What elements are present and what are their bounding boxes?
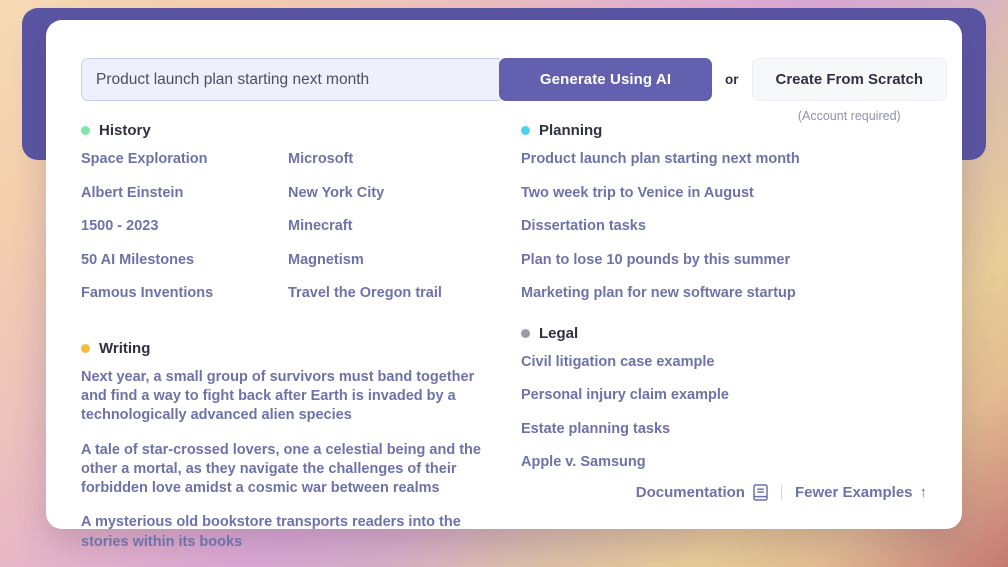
section-title-legal: Legal	[539, 325, 578, 342]
list-item[interactable]: Travel the Oregon trail	[288, 284, 495, 303]
arrow-up-icon: ↑	[920, 485, 928, 500]
list-item[interactable]: Civil litigation case example	[521, 353, 927, 372]
list-item[interactable]: Albert Einstein	[81, 184, 288, 203]
section-title-planning: Planning	[539, 122, 602, 139]
list-item[interactable]: 50 AI Milestones	[81, 251, 288, 270]
list-item[interactable]: Minecraft	[288, 217, 495, 236]
list-item[interactable]: Magnetism	[288, 251, 495, 270]
history-items-grid: Space Exploration Albert Einstein 1500 -…	[81, 150, 521, 318]
section-title-history: History	[99, 122, 151, 139]
writing-dot-icon	[81, 344, 90, 353]
list-item[interactable]: Famous Inventions	[81, 284, 288, 303]
planning-dot-icon	[521, 126, 530, 135]
section-header-history: History	[81, 122, 521, 139]
left-column: History Space Exploration Albert Einstei…	[81, 122, 521, 567]
section-history: History Space Exploration Albert Einstei…	[81, 122, 521, 318]
list-item[interactable]: New York City	[288, 184, 495, 203]
fewer-examples-link[interactable]: Fewer Examples ↑	[795, 484, 927, 501]
section-writing: Writing Next year, a small group of surv…	[81, 340, 521, 552]
fewer-examples-label: Fewer Examples	[795, 484, 913, 501]
composer-bar: Generate Using AI or Create From Scratch…	[81, 58, 947, 123]
legal-dot-icon	[521, 329, 530, 338]
section-header-writing: Writing	[81, 340, 521, 357]
section-planning: Planning Product launch plan starting ne…	[521, 122, 927, 303]
prompt-input[interactable]	[81, 58, 500, 101]
create-from-scratch-button[interactable]: Create From Scratch	[752, 58, 948, 101]
footer-divider	[781, 485, 782, 500]
list-item[interactable]: Plan to lose 10 pounds by this summer	[521, 251, 927, 270]
list-item[interactable]: 1500 - 2023	[81, 217, 288, 236]
documentation-link[interactable]: Documentation	[636, 484, 768, 501]
list-item[interactable]: Product launch plan starting next month	[521, 150, 927, 169]
section-header-legal: Legal	[521, 325, 927, 342]
or-label: or	[725, 58, 739, 101]
history-dot-icon	[81, 126, 90, 135]
list-item[interactable]: Dissertation tasks	[521, 217, 927, 236]
account-required-note: (Account required)	[798, 109, 901, 123]
documentation-label: Documentation	[636, 484, 745, 501]
section-header-planning: Planning	[521, 122, 927, 139]
section-title-writing: Writing	[99, 340, 150, 357]
list-item[interactable]: A mysterious old bookstore transports re…	[81, 513, 489, 552]
history-items-col-1: Space Exploration Albert Einstein 1500 -…	[81, 150, 288, 318]
book-icon	[753, 484, 768, 501]
history-items-col-2: Microsoft New York City Minecraft Magnet…	[288, 150, 495, 318]
list-item[interactable]: Apple v. Samsung	[521, 453, 927, 472]
list-item[interactable]: Two week trip to Venice in August	[521, 184, 927, 203]
section-legal: Legal Civil litigation case example Pers…	[521, 325, 927, 472]
list-item[interactable]: Next year, a small group of survivors mu…	[81, 368, 489, 426]
create-from-scratch-group: Create From Scratch (Account required)	[752, 58, 948, 123]
list-item[interactable]: A tale of star-crossed lovers, one a cel…	[81, 441, 489, 499]
card-footer: Documentation Fewer Examples ↑	[636, 484, 927, 501]
examples-card: Generate Using AI or Create From Scratch…	[46, 20, 962, 529]
list-item[interactable]: Marketing plan for new software startup	[521, 284, 927, 303]
generate-using-ai-button[interactable]: Generate Using AI	[499, 58, 712, 101]
list-item[interactable]: Personal injury claim example	[521, 386, 927, 405]
list-item[interactable]: Estate planning tasks	[521, 420, 927, 439]
list-item[interactable]: Space Exploration	[81, 150, 288, 169]
list-item[interactable]: Microsoft	[288, 150, 495, 169]
